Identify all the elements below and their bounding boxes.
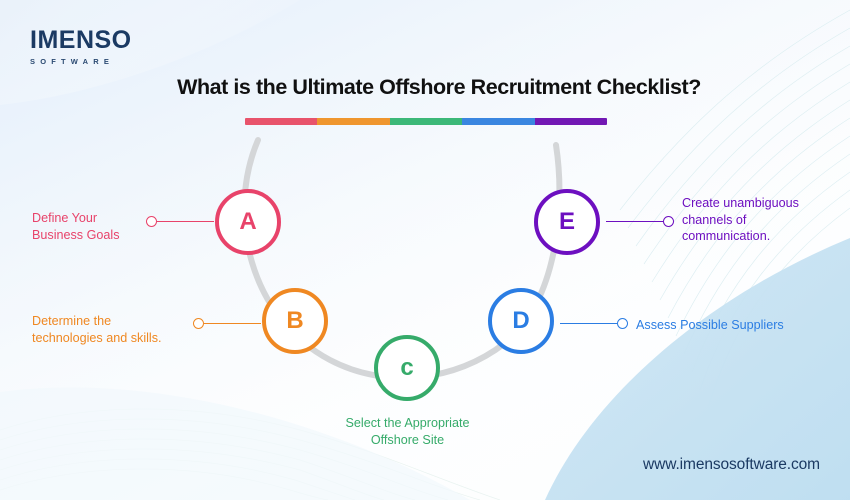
connector-d bbox=[560, 318, 628, 329]
connector-dot-e bbox=[663, 216, 674, 227]
step-node-e[interactable]: E bbox=[534, 189, 600, 255]
connector-dot-d bbox=[617, 318, 628, 329]
step-caption-b-line2: technologies and skills. bbox=[32, 330, 192, 347]
step-letter-d: D bbox=[512, 309, 529, 333]
step-caption-d-line1: Assess Possible Suppliers bbox=[636, 317, 826, 334]
title-underline-bar bbox=[245, 118, 607, 125]
step-letter-a: A bbox=[239, 210, 256, 234]
page-title: What is the Ultimate Offshore Recruitmen… bbox=[0, 75, 850, 100]
underline-segment-2 bbox=[317, 118, 389, 125]
step-caption-a-line1: Define Your bbox=[32, 210, 144, 227]
step-caption-c-line1: Select the Appropriate bbox=[310, 415, 505, 432]
connector-a bbox=[146, 216, 214, 227]
infographic-canvas: IMENSO SOFTWARE What is the Ultimate Off… bbox=[0, 0, 850, 500]
connector-e bbox=[606, 216, 674, 227]
step-caption-e-line1: Create unambiguous bbox=[682, 195, 832, 212]
connector-line-d bbox=[560, 323, 617, 325]
step-caption-c: Select the Appropriate Offshore Site bbox=[310, 415, 505, 448]
step-caption-a-line2: Business Goals bbox=[32, 227, 144, 244]
step-caption-e-line2: channels of bbox=[682, 212, 832, 229]
brand-logo: IMENSO SOFTWARE bbox=[30, 28, 132, 66]
connector-line-b bbox=[204, 323, 261, 325]
step-caption-e: Create unambiguous channels of communica… bbox=[682, 195, 832, 245]
connector-line-e bbox=[606, 221, 663, 223]
step-caption-e-line3: communication. bbox=[682, 228, 832, 245]
logo-wordmark: IMENSO bbox=[30, 28, 132, 53]
step-node-b[interactable]: B bbox=[262, 288, 328, 354]
website-url[interactable]: www.imensosoftware.com bbox=[643, 456, 820, 474]
step-letter-c: c bbox=[400, 356, 413, 380]
underline-segment-5 bbox=[535, 118, 607, 125]
connector-line-a bbox=[157, 221, 214, 223]
step-caption-d: Assess Possible Suppliers bbox=[636, 317, 826, 334]
step-node-d[interactable]: D bbox=[488, 288, 554, 354]
connector-dot-b bbox=[193, 318, 204, 329]
step-node-c[interactable]: c bbox=[374, 335, 440, 401]
step-caption-b: Determine the technologies and skills. bbox=[32, 313, 192, 346]
connector-b bbox=[193, 318, 261, 329]
step-letter-e: E bbox=[559, 210, 575, 234]
connector-dot-a bbox=[146, 216, 157, 227]
step-letter-b: B bbox=[286, 309, 303, 333]
step-caption-a: Define Your Business Goals bbox=[32, 210, 144, 243]
step-caption-b-line1: Determine the bbox=[32, 313, 192, 330]
underline-segment-1 bbox=[245, 118, 317, 125]
step-node-a[interactable]: A bbox=[215, 189, 281, 255]
step-caption-c-line2: Offshore Site bbox=[310, 432, 505, 449]
underline-segment-4 bbox=[462, 118, 534, 125]
underline-segment-3 bbox=[390, 118, 462, 125]
logo-tagline: SOFTWARE bbox=[30, 58, 132, 66]
